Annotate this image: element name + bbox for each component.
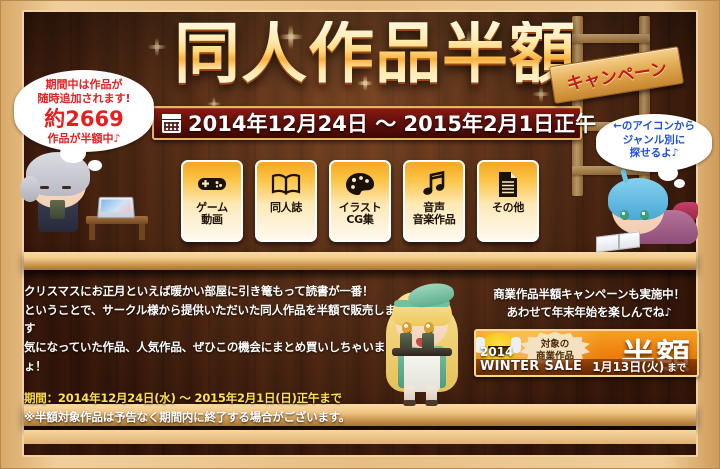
character-shoe (425, 400, 438, 406)
character-eye (40, 186, 49, 189)
campaign-banner: 同人作品半額 キャンペーン 2014年12月24日 ～ 2015年2月1日正午 … (0, 0, 720, 469)
campaign-date-text: 2014年12月24日 ～ 2015年2月1日正午 (188, 108, 596, 138)
book-icon (271, 169, 301, 199)
palette-icon (345, 169, 375, 199)
category-button-game-video[interactable]: ゲーム動画 (181, 160, 243, 242)
sale-year: 2014 (480, 345, 513, 359)
music-note-icon (421, 169, 447, 199)
sale-until-date: 1月13日(火) (592, 358, 664, 375)
winter-sale-label: WINTER SALE (480, 359, 582, 374)
campaign-date-bar: 2014年12月24日 ～ 2015年2月1日正午 (152, 106, 582, 140)
right-speech-bubble: ←のアイコンから ジャンル別に 探せるよ♪ (596, 114, 712, 172)
character-shoe (403, 400, 416, 406)
bubble-right-line1: ←のアイコンから (600, 120, 708, 134)
bubble-left-line3: 作品が半額中♪ (20, 132, 148, 146)
description-note: ※半額対象作品は予告なく期間内に終了する場合がございます。 (24, 408, 404, 427)
bubble-left-line2: 随時追加されます! (20, 92, 148, 106)
description-line1: クリスマスにお正月といえば暖かい部屋に引き篭もって読書が一番！ (24, 282, 404, 301)
character-hair (608, 178, 668, 220)
character-waitress (374, 286, 470, 406)
sale-until-suffix: まで (667, 360, 686, 374)
cup-icon (400, 333, 412, 349)
description-block: クリスマスにお正月といえば暖かい部屋に引き篭もって読書が一番！ ということで、サ… (24, 282, 404, 426)
sale-banner-footer: WINTER SALE 1月13日(火) まで (476, 359, 697, 375)
category-label: その他 (492, 202, 524, 214)
description-period: 期間：2014年12月24日(水) ～ 2015年2月1日(日)正午まで (24, 389, 404, 408)
laptop-icon (97, 197, 135, 218)
promo-line1: 商業作品半額キャンペーンも実施中！ (474, 286, 704, 304)
character-reading-laptop (10, 156, 160, 256)
gamepad-icon (197, 169, 227, 199)
category-label: 音声音楽作品 (413, 202, 456, 227)
open-book-icon (596, 231, 640, 252)
category-button-doujinshi[interactable]: 同人誌 (255, 160, 317, 242)
category-button-illust-cg[interactable]: イラストCG集 (329, 160, 391, 242)
bubble-right-line3: 探せるよ♪ (600, 147, 708, 161)
category-button-voice-music[interactable]: 音声音楽作品 (403, 160, 465, 242)
calendar-icon (162, 114, 181, 133)
promo-line2: あわせて年末年始を楽しんでね♪ (474, 304, 704, 322)
character-eye (62, 186, 71, 189)
category-button-other[interactable]: その他 (477, 160, 539, 242)
banner-title: 同人作品半額 (144, 21, 576, 87)
shelf-edge-bottom (24, 430, 696, 444)
half-price-work-count: 約2669 (20, 107, 148, 131)
cup-icon (422, 333, 434, 349)
coffee-cup-icon (50, 200, 65, 219)
category-label: ゲーム動画 (196, 202, 228, 227)
description-line3: 気になっていた作品、人気作品、ぜひこの機会にまとめ買いしちゃいましょ！ (24, 338, 404, 375)
character-eye (640, 210, 649, 220)
bubble-left-line1: 期間中は作品が (20, 78, 148, 92)
winter-sale-banner[interactable]: 対象の 商業作品 半額 2014 WINTER SALE 1月13日(火) まで (474, 329, 699, 377)
burst-line1: 対象の (541, 339, 570, 351)
character-reading-book (598, 176, 716, 260)
description-line2: ということで、サークル様から提供いただいた同人作品を半額で販売します (24, 301, 404, 338)
promo-block: 商業作品半額キャンペーンも実施中！ あわせて年末年始を楽しんでね♪ 対象の 商業… (474, 286, 704, 377)
character-eye (620, 210, 629, 220)
category-label: 同人誌 (270, 202, 302, 214)
left-speech-bubble: 期間中は作品が 随時追加されます! 約2669 作品が半額中♪ (14, 70, 154, 152)
bubble-right-line2: ジャンル別に (600, 134, 708, 148)
category-label: イラストCG集 (339, 202, 382, 227)
document-icon (497, 169, 519, 199)
serving-tray-icon (392, 348, 452, 356)
